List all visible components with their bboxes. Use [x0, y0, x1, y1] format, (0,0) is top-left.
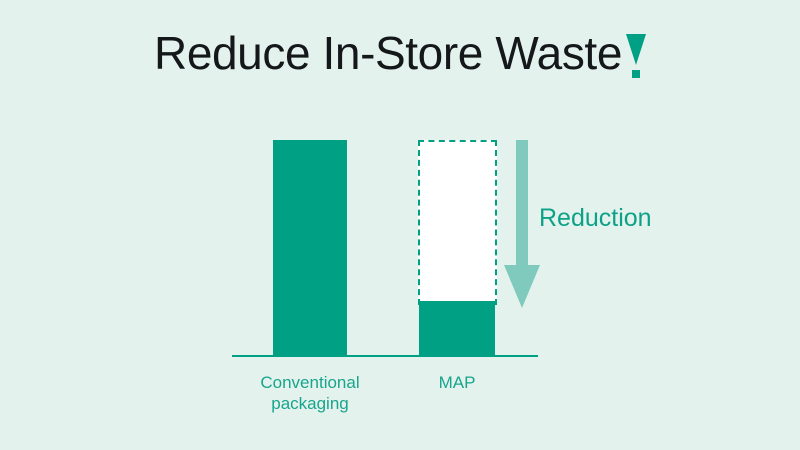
reduction-label: Reduction: [539, 204, 652, 233]
bar-map-reduction-outline: [418, 140, 497, 305]
bar-conventional-packaging: [273, 140, 347, 355]
chart-baseline-axis: [232, 355, 538, 357]
slide-canvas: Reduce In-Store Waste Reduction Conventi…: [0, 0, 800, 450]
reduction-arrow-icon: [503, 140, 543, 310]
bar-map: [419, 301, 495, 355]
category-label-map: MAP: [417, 372, 497, 393]
category-label-conventional-packaging: Conventional packaging: [230, 372, 390, 414]
bar-chart: Reduction Conventional packaging MAP: [0, 0, 800, 450]
category-label-line-1: Conventional: [230, 372, 390, 393]
category-label-line-2: packaging: [230, 393, 390, 414]
